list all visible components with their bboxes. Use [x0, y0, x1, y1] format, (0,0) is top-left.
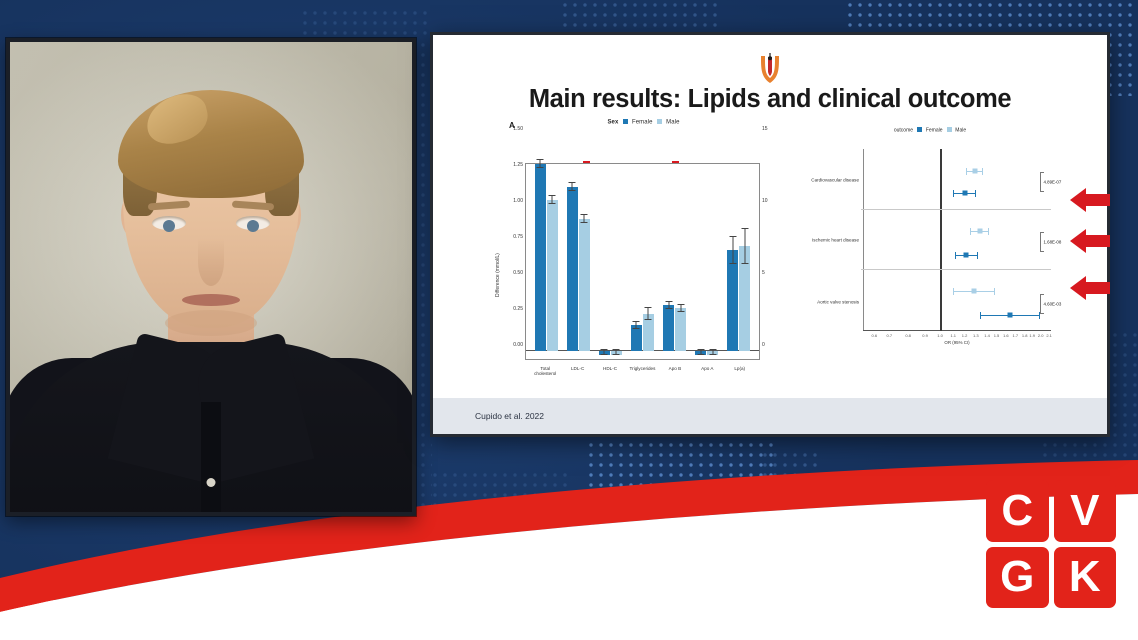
forest-point-male — [977, 228, 982, 233]
forest-plot-legend: outcome Female Male — [805, 127, 1055, 133]
bar-group — [531, 164, 560, 359]
forest-xtick: 0.7 — [887, 333, 893, 338]
presenter-video-frame[interactable] — [6, 38, 416, 516]
forest-x-axis — [863, 330, 1051, 331]
forest-xtick: 1.9 — [1029, 333, 1035, 338]
bar-male — [739, 246, 750, 351]
forest-row-label: Cardiovascular disease — [811, 177, 859, 182]
iris-left — [163, 220, 175, 232]
citation-text: Cupido et al. 2022 — [475, 411, 544, 421]
bar-male — [675, 308, 686, 351]
presentation-stage: Main results: Lipids and clinical outcom… — [0, 0, 1138, 640]
bar-male — [611, 351, 622, 355]
forest-plot-area: Cardiovascular disease 4.89E-07 Ischemic… — [863, 149, 1051, 331]
cvgk-logo[interactable]: C V G K — [986, 480, 1116, 608]
forest-pvalue: 4.60E-03 — [1043, 301, 1061, 306]
bar-chart-plot-area: 0.00 0.25 0.50 0.75 1.00 1.25 1.50 0 5 1… — [525, 163, 760, 360]
shirt-placket — [201, 402, 221, 512]
bar-male — [707, 351, 718, 355]
legend-swatch-male — [657, 119, 662, 124]
forest-point-female — [962, 190, 967, 195]
forest-xtick: 1.1 — [950, 333, 956, 338]
ytick-right: 10 — [762, 198, 768, 204]
forest-xtick: 2.0 — [1038, 333, 1044, 338]
forest-null-line — [940, 149, 942, 331]
mouth — [182, 294, 240, 306]
dot-pattern-top-mid — [560, 0, 720, 36]
annotation-arrow-avs — [1070, 276, 1110, 300]
ytick: 0.00 — [513, 342, 523, 348]
xlabel: HDL-C — [595, 366, 625, 378]
forest-row-separator — [861, 209, 1051, 210]
logo-letter-c: C — [986, 480, 1049, 542]
annotation-arrow-cvd — [1070, 188, 1110, 212]
bar-male — [579, 219, 590, 351]
legend-label-male: Male — [666, 120, 679, 126]
umc-utrecht-logo-icon — [757, 53, 783, 87]
presenter-video — [10, 42, 412, 512]
forest-legend-label-female: Female — [926, 127, 943, 133]
forest-y-axis — [863, 149, 864, 331]
bar-female — [599, 351, 610, 355]
ytick: 0.75 — [513, 234, 523, 240]
bar-female — [663, 305, 674, 351]
forest-row-separator — [861, 269, 1051, 270]
legend-label-female: Female — [632, 120, 653, 126]
nose — [198, 238, 224, 286]
forest-pvalue: 4.89E-07 — [1043, 179, 1061, 184]
bar-group — [596, 164, 625, 359]
forest-pvalue: 1.68E-08 — [1043, 239, 1061, 244]
forest-xtick: 1.6 — [1003, 333, 1009, 338]
forest-legend-label-male: Male — [955, 127, 966, 133]
forest-pvalue-bracket — [1040, 232, 1041, 252]
forest-legend-swatch-male — [947, 127, 952, 132]
ytick: 1.00 — [513, 198, 523, 204]
forest-xlabel: OR (95% CI) — [863, 340, 1051, 345]
bar-chart-groups — [526, 164, 759, 359]
forest-xtick: 1.4 — [984, 333, 990, 338]
ytick: 0.25 — [513, 306, 523, 312]
ytick: 0.50 — [513, 270, 523, 276]
forest-pvalue-bracket — [1040, 172, 1041, 192]
bar-chart-legend: Sex Female Male — [491, 119, 796, 126]
bar-group — [564, 164, 593, 359]
xlabel: LDL-C — [563, 366, 593, 378]
xlabel: Triglycerides — [628, 366, 658, 378]
logo-letter-v: V — [1054, 480, 1117, 542]
legend-swatch-female — [623, 119, 628, 124]
chin — [165, 310, 257, 336]
xlabel: Apo B — [660, 366, 690, 378]
forest-legend-swatch-female — [917, 127, 922, 132]
forest-pvalue-bracket — [1040, 294, 1041, 314]
forest-xtick: 1.0 — [937, 333, 943, 338]
forest-xtick: 1.3 — [973, 333, 979, 338]
forest-xtick: 0.6 — [871, 333, 877, 338]
slide-content: Main results: Lipids and clinical outcom… — [433, 35, 1107, 434]
forest-xtick: 1.8 — [1022, 333, 1028, 338]
ytick-right: 15 — [762, 126, 768, 132]
bar-group — [628, 164, 657, 359]
xlabel: Lp(a) — [725, 366, 755, 378]
forest-point-male — [972, 168, 977, 173]
forest-xtick: 1.5 — [994, 333, 1000, 338]
bar-chart-panel-a: Sex Female Male 1.22E-06p-interaction 3.… — [491, 119, 796, 394]
forest-xtick: 0.9 — [922, 333, 928, 338]
logo-letter-g: G — [986, 547, 1049, 609]
slide-citation-bar: Cupido et al. 2022 — [433, 398, 1107, 434]
legend-title: Sex — [607, 120, 618, 126]
bar-male — [643, 314, 654, 351]
forest-row-label: Aortic valve stenosis — [817, 299, 859, 304]
bar-female — [695, 351, 706, 355]
bar-group — [692, 164, 721, 359]
forest-point-female — [964, 252, 969, 257]
dot-pattern-top-left — [300, 8, 430, 36]
hair — [118, 90, 304, 198]
bar-chart-ylabel: Difference (mmol/L) — [495, 253, 501, 297]
bar-female — [631, 325, 642, 351]
page-title: Main results: Lipids and clinical outcom… — [433, 85, 1107, 114]
forest-legend-title: outcome — [894, 127, 913, 133]
iris-right — [247, 220, 259, 232]
xlabel: Total cholesterol — [530, 366, 560, 378]
bar-female — [535, 164, 546, 351]
forest-xtick: 2.1 — [1046, 333, 1052, 338]
ytick-right: 5 — [762, 270, 765, 276]
logo-letter-k: K — [1054, 547, 1117, 609]
bar-group — [724, 164, 753, 359]
annotation-arrow-ihd — [1070, 229, 1110, 253]
forest-xtick: 1.7 — [1012, 333, 1018, 338]
ytick: 1.25 — [513, 162, 523, 168]
bar-male — [547, 200, 558, 351]
forest-point-female — [1007, 312, 1012, 317]
bar-female — [567, 187, 578, 351]
ytick: 1.50 — [513, 126, 523, 132]
ytick-right: 0 — [762, 342, 765, 348]
bar-group — [660, 164, 689, 359]
presenter-figure — [10, 42, 412, 512]
forest-xtick: 1.2 — [962, 333, 968, 338]
forest-plot-panel-b: outcome Female Male Cardiovascular disea… — [805, 127, 1055, 357]
slide-frame[interactable]: Main results: Lipids and clinical outcom… — [430, 32, 1110, 437]
bar-female — [727, 250, 738, 351]
xlabel: Apo A — [693, 366, 723, 378]
shirt-button — [207, 478, 216, 487]
forest-xtick: 0.8 — [905, 333, 911, 338]
forest-row-label: Ischemic heart disease — [812, 238, 859, 243]
bar-chart-xlabels: Total cholesterol LDL-C HDL-C Triglyceri… — [525, 366, 760, 378]
forest-point-male — [971, 288, 976, 293]
